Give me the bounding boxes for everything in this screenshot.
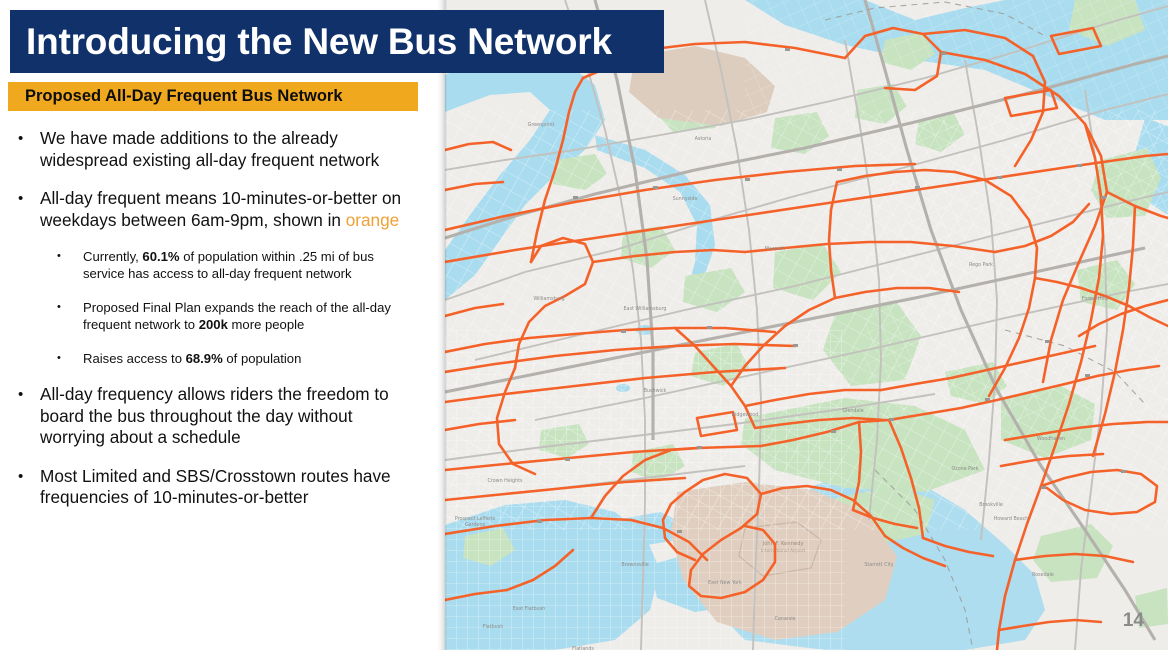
sub-text-post: of population bbox=[223, 351, 302, 366]
svg-text:Woodhaven: Woodhaven bbox=[1037, 436, 1065, 442]
slide-subtitle-bar: Proposed All-Day Frequent Bus Network bbox=[8, 82, 418, 111]
svg-text:Sunnyside: Sunnyside bbox=[673, 196, 698, 202]
svg-text:East Flatbush: East Flatbush bbox=[513, 606, 545, 612]
sub-bullet-list: • Currently, 60.1% of population within … bbox=[0, 248, 440, 367]
svg-text:Greenpoint: Greenpoint bbox=[528, 122, 555, 128]
bullet-marker: • bbox=[0, 188, 40, 231]
svg-text:Forest Hills: Forest Hills bbox=[1082, 296, 1109, 302]
svg-text:Rosedale: Rosedale bbox=[1032, 572, 1054, 578]
svg-text:East New York: East New York bbox=[708, 580, 742, 586]
sub-text-bold: 60.1% bbox=[142, 249, 179, 264]
svg-text:Glendale: Glendale bbox=[842, 408, 863, 414]
bus-network-map[interactable]: John F. Kennedy International Airport bbox=[445, 0, 1168, 650]
bullet-marker: • bbox=[0, 466, 40, 509]
subtitle-label: Proposed All-Day Frequent Bus Network bbox=[8, 87, 343, 106]
svg-text:Bushwick: Bushwick bbox=[644, 388, 667, 394]
bullet-marker: • bbox=[0, 384, 40, 449]
bullet-marker: • bbox=[0, 128, 40, 171]
bullet-text: Most Limited and SBS/Crosstown routes ha… bbox=[40, 466, 440, 509]
svg-text:Ridgewood: Ridgewood bbox=[732, 412, 759, 418]
bullet-text: All-day frequent means 10-minutes-or-bet… bbox=[40, 188, 440, 231]
sub-text-pre: Currently, bbox=[83, 249, 142, 264]
sub-bullet-text: Proposed Final Plan expands the reach of… bbox=[83, 299, 440, 333]
sub-text-pre: Raises access to bbox=[83, 351, 186, 366]
svg-text:Howard Beach: Howard Beach bbox=[994, 516, 1029, 522]
svg-text:Astoria: Astoria bbox=[695, 136, 712, 142]
sub-bullet-item: • Proposed Final Plan expands the reach … bbox=[0, 299, 440, 333]
map-graphic: John F. Kennedy International Airport bbox=[445, 0, 1168, 650]
sub-bullet-marker: • bbox=[0, 248, 83, 282]
svg-text:Ozone Park: Ozone Park bbox=[951, 466, 978, 472]
svg-text:Gardens: Gardens bbox=[465, 522, 486, 528]
svg-text:Brownsville: Brownsville bbox=[621, 562, 648, 568]
svg-text:Flatbush: Flatbush bbox=[483, 624, 504, 630]
bullet-item: • Most Limited and SBS/Crosstown routes … bbox=[0, 466, 440, 509]
svg-text:Prospect Lefferts: Prospect Lefferts bbox=[455, 516, 496, 522]
svg-text:Canarsie: Canarsie bbox=[774, 616, 795, 622]
page-title: Introducing the New Bus Network bbox=[10, 23, 612, 60]
svg-text:Williamsburg: Williamsburg bbox=[533, 296, 564, 302]
bullet-item: • All-day frequency allows riders the fr… bbox=[0, 384, 440, 449]
sub-text-bold: 68.9% bbox=[186, 351, 223, 366]
bullet-item: • All-day frequent means 10-minutes-or-b… bbox=[0, 188, 440, 231]
sub-bullet-marker: • bbox=[0, 350, 83, 367]
sub-bullet-text: Currently, 60.1% of population within .2… bbox=[83, 248, 440, 282]
svg-text:Rego Park: Rego Park bbox=[969, 262, 993, 268]
svg-text:Brookville: Brookville bbox=[979, 502, 1003, 508]
sub-bullet-item: • Raises access to 68.9% of population bbox=[0, 350, 440, 367]
bullet-text-highlight: orange bbox=[346, 210, 400, 230]
svg-text:Crown Heights: Crown Heights bbox=[488, 478, 523, 484]
slide-canvas: John F. Kennedy International Airport bbox=[0, 0, 1168, 650]
svg-text:Starrett City: Starrett City bbox=[864, 562, 893, 568]
svg-text:Flatlands: Flatlands bbox=[572, 646, 594, 650]
sub-bullet-text: Raises access to 68.9% of population bbox=[83, 350, 440, 367]
sub-bullet-marker: • bbox=[0, 299, 83, 333]
bullet-text: We have made additions to the already wi… bbox=[40, 128, 440, 171]
svg-text:Maspeth: Maspeth bbox=[765, 246, 786, 252]
sub-text-post: more people bbox=[228, 317, 304, 332]
bullet-item: • We have made additions to the already … bbox=[0, 128, 440, 171]
svg-text:East Williamsburg: East Williamsburg bbox=[624, 306, 667, 312]
sub-bullet-item: • Currently, 60.1% of population within … bbox=[0, 248, 440, 282]
sub-text-bold: 200k bbox=[199, 317, 228, 332]
slide-title-bar: Introducing the New Bus Network bbox=[10, 10, 664, 73]
bullet-text: All-day frequency allows riders the free… bbox=[40, 384, 440, 449]
page-number: 14 bbox=[1123, 610, 1144, 632]
bullet-list: • We have made additions to the already … bbox=[0, 128, 440, 526]
